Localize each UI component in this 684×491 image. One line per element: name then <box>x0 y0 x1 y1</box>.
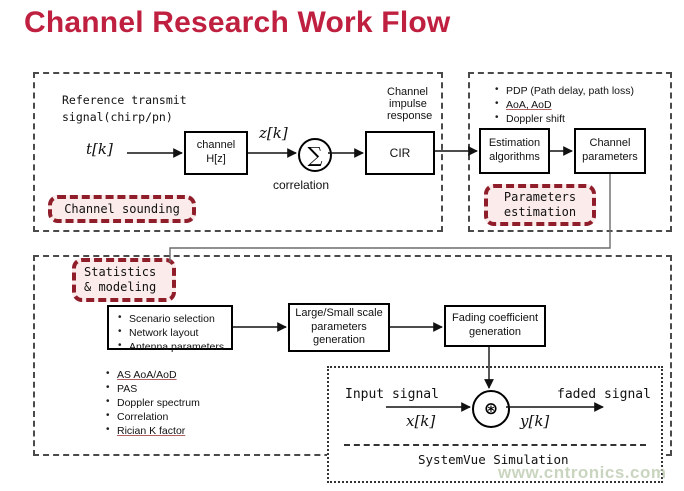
input-signal-xk: x[k] <box>406 412 435 430</box>
channel-parameters-line1: Channel <box>590 137 631 151</box>
channel-hz-box: channel H[z] <box>184 131 248 175</box>
badge-parameters-estimation: Parameters estimation <box>484 184 596 226</box>
reference-transmit-caption-line1: Reference transmit <box>62 93 187 109</box>
convolution-node: ⊛ <box>472 390 510 428</box>
estimation-bullet-list: PDP (Path delay, path loss) AoA, AoD Dop… <box>494 84 634 126</box>
convolution-icon: ⊛ <box>484 401 498 418</box>
cir-box: CIR <box>365 131 435 175</box>
fading-coefficient-box: Fading coefficient generation <box>444 305 546 347</box>
list-item: Doppler spectrum <box>105 396 200 410</box>
output-signal-yk: y[k] <box>520 412 549 430</box>
fading-coefficient-line2: generation <box>469 326 521 340</box>
channel-hz-box-line2: H[z] <box>206 153 226 167</box>
scenario-selection-box: Scenario selection Network layout Antenn… <box>107 305 233 350</box>
list-item: AS AoA/AoD <box>105 368 200 382</box>
badge-statistics-line2: & modeling <box>84 280 156 295</box>
channel-output-zk: z[k] <box>259 124 288 142</box>
badge-parameters-estimation-line2: estimation <box>504 205 576 220</box>
list-item: Doppler shift <box>494 112 634 126</box>
channel-parameters-line2: parameters <box>582 151 638 165</box>
statistics-side-bullet-list: AS AoA/AoD PAS Doppler spectrum Correlat… <box>105 368 200 438</box>
list-item: Scenario selection <box>117 312 225 326</box>
faded-signal-label: faded signal <box>557 386 651 404</box>
list-item: Network layout <box>117 326 225 340</box>
estimation-algorithms-box: Estimation algorithms <box>479 128 550 174</box>
list-item: Antenna parameters <box>117 340 225 354</box>
estimation-algorithms-line1: Estimation <box>489 137 540 151</box>
list-item: Correlation <box>105 410 200 424</box>
badge-statistics-modeling: Statistics & modeling <box>72 258 176 302</box>
input-signal-label: Input signal <box>345 386 439 404</box>
large-small-scale-box: Large/Small scale parameters generation <box>288 303 390 352</box>
large-small-scale-line3: generation <box>313 334 365 348</box>
correlation-label: correlation <box>273 178 329 194</box>
list-item: Rician K factor <box>105 424 200 438</box>
large-small-scale-line2: parameters <box>311 321 367 335</box>
fading-coefficient-line1: Fading coefficient <box>452 312 538 326</box>
summation-node: ∑ <box>298 138 332 172</box>
badge-channel-sounding: Channel sounding <box>48 195 196 223</box>
cir-caption-line3: response <box>387 109 432 123</box>
badge-statistics-line1: Statistics <box>84 265 156 280</box>
list-item: PAS <box>105 382 200 396</box>
large-small-scale-line1: Large/Small scale <box>295 307 382 321</box>
page-title: Channel Research Work Flow <box>24 6 450 40</box>
watermark: www.cntronics.com <box>498 463 666 483</box>
channel-parameters-box: Channel parameters <box>574 128 646 174</box>
estimation-algorithms-line2: algorithms <box>489 151 540 165</box>
badge-channel-sounding-label: Channel sounding <box>64 202 180 217</box>
list-item: AoA, AoD <box>494 98 634 112</box>
sigma-icon: ∑ <box>308 145 323 166</box>
input-signal-tk: t[k] <box>86 140 113 158</box>
scenario-box-bullet-list: Scenario selection Network layout Antenn… <box>117 312 225 354</box>
channel-hz-box-line1: channel <box>197 139 236 153</box>
list-item: PDP (Path delay, path loss) <box>494 84 634 98</box>
systemvue-divider <box>344 444 646 446</box>
badge-parameters-estimation-line1: Parameters <box>504 190 576 205</box>
workflow-diagram: Channel Research Work Flow Reference tra… <box>0 0 684 491</box>
reference-transmit-caption-line2: signal(chirp/pn) <box>62 110 173 126</box>
